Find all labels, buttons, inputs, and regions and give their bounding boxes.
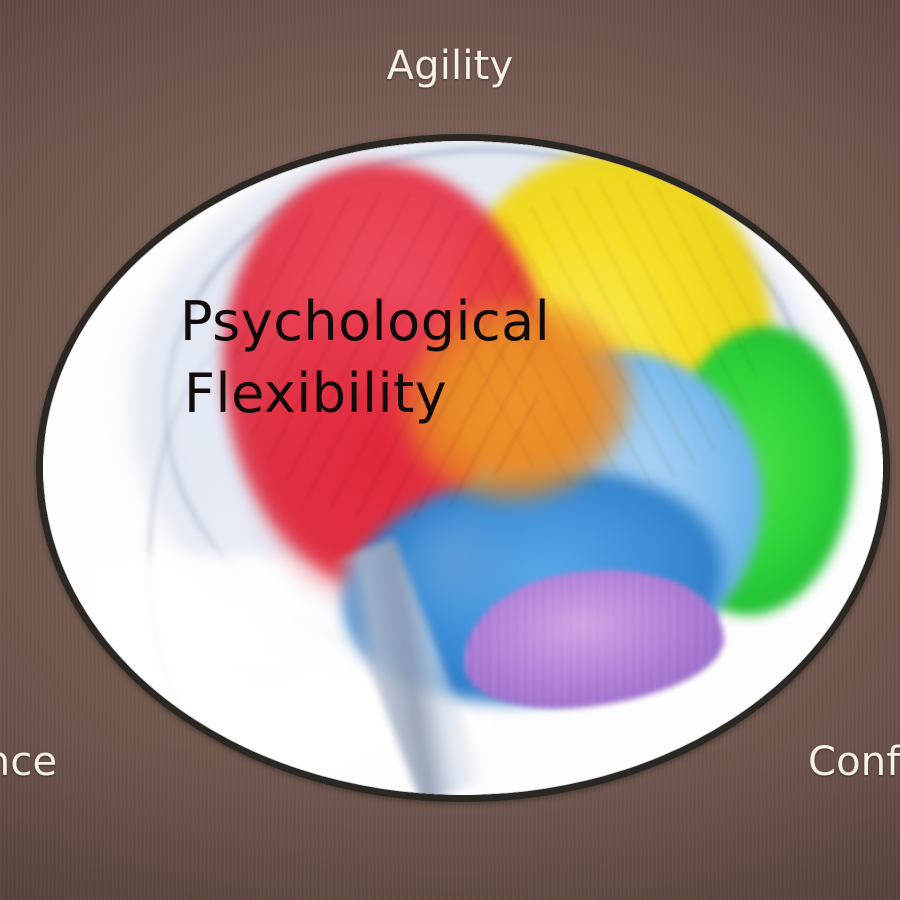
oval-image-frame <box>36 134 890 802</box>
slide-canvas: Agility ence Confi Psychologic <box>0 0 900 900</box>
brain-photo <box>43 141 883 795</box>
parietal-gyri-texture <box>463 181 763 491</box>
label-agility: Agility <box>0 46 900 86</box>
